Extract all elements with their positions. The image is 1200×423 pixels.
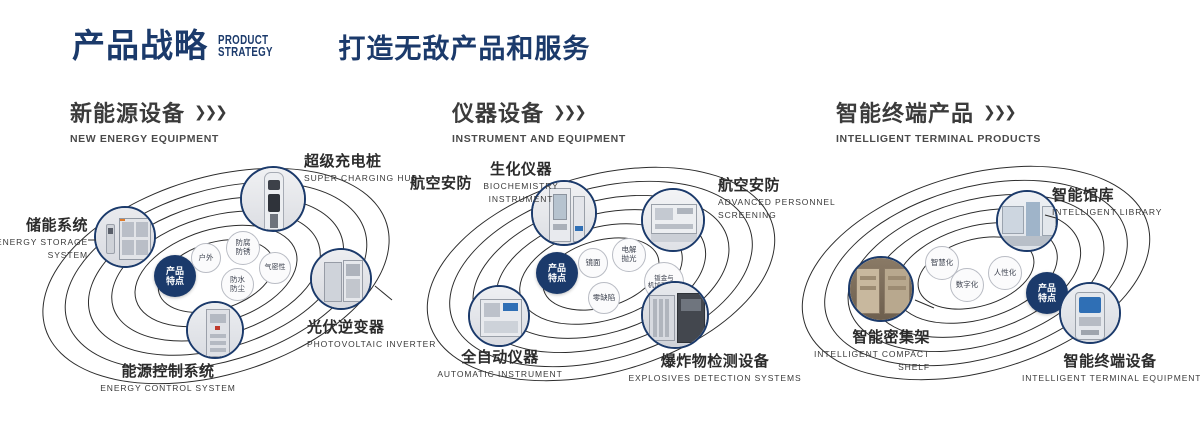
chevron-right-icon: ❯❯❯ [553, 105, 585, 120]
section-instrument-en: INSTRUMENT AND EQUIPMENT [452, 133, 626, 145]
product-label-cn: 智能馆库 [1052, 186, 1162, 205]
product-label-en-line2: SYSTEM [0, 250, 88, 261]
product-label-terminal-kiosk: 智能终端设备 INTELLIGENT TERMINAL EQUIPMENT [1022, 352, 1198, 384]
core-bubble-line1: 产品 [166, 266, 184, 276]
product-node-pv-inverter[interactable] [310, 248, 372, 310]
product-label-biochemistry-instrument: 生化仪器 BIOCHEMISTRY INSTRUMENT [466, 160, 576, 205]
feature-bubble-line1: 人性化 [994, 269, 1017, 278]
page-header: 产品战略 PRODUCT STRATEGY 打造无敌产品和服务 [72, 26, 590, 66]
page-title-english-line2: STRATEGY [218, 46, 273, 59]
product-label-explosives-detector: 爆炸物检测设备 EXPLOSIVES DETECTION SYSTEMS [620, 352, 810, 384]
product-label-en-line1: PHOTOVOLTAIC INVERTER [307, 339, 436, 350]
section-title-intelligent-terminal: 智能终端产品 ❯❯❯ INTELLIGENT TERMINAL PRODUCTS [836, 96, 1041, 145]
product-label-energy-storage: 储能系统 ENERGY STORAGE SYSTEM [0, 216, 88, 261]
product-label-en-line1: ENERGY CONTROL SYSTEM [78, 383, 258, 394]
product-label-compact-shelf: 智能密集架 INTELLIGENT COMPACT SHELF [800, 328, 930, 373]
core-bubble-new-energy[interactable]: 产品 特点 [154, 255, 196, 297]
product-strategy-infographic: 产品战略 PRODUCT STRATEGY 打造无敌产品和服务 新能源设备 ❯❯… [0, 0, 1200, 422]
product-label-en-line1: INTELLIGENT COMPACT [800, 349, 930, 360]
product-label-advanced-personnel-screening: 航空安防 ADVANCED PERSONNEL SCREENING [718, 176, 836, 221]
page-title: 产品战略 [72, 26, 208, 66]
product-label-en-line1: AUTOMATIC INSTRUMENT [420, 369, 580, 380]
feature-bubble-airtight[interactable]: 气密性 [259, 252, 291, 284]
product-label-en-line2: SHELF [800, 362, 930, 373]
section-instrument-label: 仪器设备 [452, 96, 544, 128]
page-title-english-line1: PRODUCT [218, 34, 273, 47]
core-bubble-line1: 产品 [1038, 283, 1056, 293]
product-node-screening-machine[interactable] [641, 188, 705, 252]
feature-bubble-anticorrosion[interactable]: 防腐 防锈 [226, 231, 260, 265]
feature-bubble-zero-defect[interactable]: 零缺陷 [588, 282, 620, 314]
product-node-automatic-instrument[interactable] [468, 285, 530, 347]
core-bubble-line2: 特点 [548, 273, 566, 283]
feature-bubble-outdoor[interactable]: 户外 [191, 243, 221, 273]
product-label-pv-inverter: 光伏逆变器 PHOTOVOLTAIC INVERTER [307, 318, 436, 350]
page-subtitle: 打造无敌产品和服务 [338, 27, 590, 66]
energy-storage-cabinet-photo [96, 208, 154, 266]
screening-machine-photo [643, 190, 703, 250]
energy-control-cabinet-photo [188, 303, 242, 357]
product-label-cn: 智能密集架 [800, 328, 930, 347]
feature-bubble-line1: 气密性 [265, 264, 286, 272]
product-label-en-line2: INSTRUMENT [466, 194, 576, 205]
core-bubble-instrument[interactable]: 产品 特点 [536, 252, 578, 294]
product-label-cn: 储能系统 [0, 216, 88, 235]
intelligent-library-photo [998, 192, 1056, 250]
product-node-explosives-detector[interactable] [641, 281, 709, 349]
product-label-cn: 能源控制系统 [78, 362, 258, 381]
product-node-energy-control[interactable] [186, 301, 244, 359]
pv-inverter-photo [312, 250, 370, 308]
product-node-intelligent-library[interactable] [996, 190, 1058, 252]
product-label-en-line2: SCREENING [718, 210, 836, 221]
product-label-super-charging-hub: 超级充电桩 SUPER CHARGING HUB [304, 152, 418, 184]
feature-bubble-digital[interactable]: 数字化 [950, 268, 984, 302]
section-title-new-energy: 新能源设备 ❯❯❯ NEW ENERGY EQUIPMENT [70, 96, 226, 145]
product-label-cn: 航空安防 [410, 174, 472, 193]
feature-bubble-line1: 数字化 [956, 281, 979, 290]
section-new-energy-label: 新能源设备 [70, 96, 185, 128]
product-node-energy-storage[interactable] [94, 206, 156, 268]
feature-bubble-electropolishing[interactable]: 电解 抛光 [612, 238, 646, 272]
section-title-instrument: 仪器设备 ❯❯❯ INSTRUMENT AND EQUIPMENT [452, 96, 626, 145]
core-bubble-line2: 特点 [1038, 293, 1056, 303]
product-label-energy-control: 能源控制系统 ENERGY CONTROL SYSTEM [78, 362, 258, 394]
feature-bubble-humanized[interactable]: 人性化 [988, 256, 1022, 290]
feature-bubble-line2: 防锈 [236, 248, 251, 257]
section-new-energy-en: NEW ENERGY EQUIPMENT [70, 133, 226, 145]
product-label-cn: 生化仪器 [466, 160, 576, 179]
compact-shelf-photo [850, 258, 912, 320]
product-label-en-line1: ADVANCED PERSONNEL [718, 197, 836, 208]
product-label-en-line1: INTELLIGENT TERMINAL EQUIPMENT [1022, 373, 1198, 384]
automatic-instrument-photo [470, 287, 528, 345]
feature-bubble-line1: 户外 [199, 254, 214, 263]
charging-pile-photo [242, 168, 304, 230]
feature-bubble-waterproof[interactable]: 防水 防尘 [221, 268, 254, 301]
product-label-cn: 航空安防 [718, 176, 836, 195]
section-title-instrument-cn: 仪器设备 ❯❯❯ [452, 96, 626, 128]
product-node-terminal-kiosk[interactable] [1059, 282, 1121, 344]
feature-bubble-line2: 防尘 [230, 285, 245, 294]
feature-bubble-line1: 零缺陷 [593, 294, 616, 303]
product-label-en-line1: EXPLOSIVES DETECTION SYSTEMS [620, 373, 810, 384]
feature-bubble-line1: 智慧化 [931, 259, 954, 268]
feature-bubble-line1: 镜面 [586, 259, 601, 268]
chevron-right-icon: ❯❯❯ [194, 105, 226, 120]
core-bubble-line2: 特点 [166, 276, 184, 286]
product-label-cn: 智能终端设备 [1022, 352, 1198, 371]
product-label-automatic-instrument: 全自动仪器 AUTOMATIC INSTRUMENT [420, 348, 580, 380]
product-label-cn: 超级充电桩 [304, 152, 418, 171]
product-label-en-line1: SUPER CHARGING HUB [304, 173, 418, 184]
core-bubble-line1: 产品 [548, 263, 566, 273]
explosives-detector-photo [643, 283, 707, 347]
section-title-new-energy-cn: 新能源设备 ❯❯❯ [70, 96, 226, 128]
product-label-aviation-security-left: 航空安防 [410, 174, 472, 193]
product-node-compact-shelf[interactable] [848, 256, 914, 322]
section-intelligent-terminal-en: INTELLIGENT TERMINAL PRODUCTS [836, 133, 1041, 145]
chevron-right-icon: ❯❯❯ [983, 105, 1015, 120]
product-node-super-charging-hub[interactable] [240, 166, 306, 232]
product-label-en-line1: BIOCHEMISTRY [466, 181, 576, 192]
page-title-english: PRODUCT STRATEGY [218, 34, 273, 59]
product-label-en-line1: INTELLIGENT LIBRARY [1052, 207, 1162, 218]
product-label-cn: 全自动仪器 [420, 348, 580, 367]
feature-bubble-mirror-finish[interactable]: 镜面 [578, 248, 608, 278]
section-title-intelligent-terminal-cn: 智能终端产品 ❯❯❯ [836, 96, 1041, 128]
feature-bubble-line2: 抛光 [622, 255, 637, 264]
product-label-cn: 光伏逆变器 [307, 318, 436, 337]
product-label-en-line1: ENERGY STORAGE [0, 237, 88, 248]
product-label-intelligent-library: 智能馆库 INTELLIGENT LIBRARY [1052, 186, 1162, 218]
terminal-kiosk-photo [1061, 284, 1119, 342]
section-intelligent-terminal-label: 智能终端产品 [836, 96, 974, 128]
product-label-cn: 爆炸物检测设备 [620, 352, 810, 371]
